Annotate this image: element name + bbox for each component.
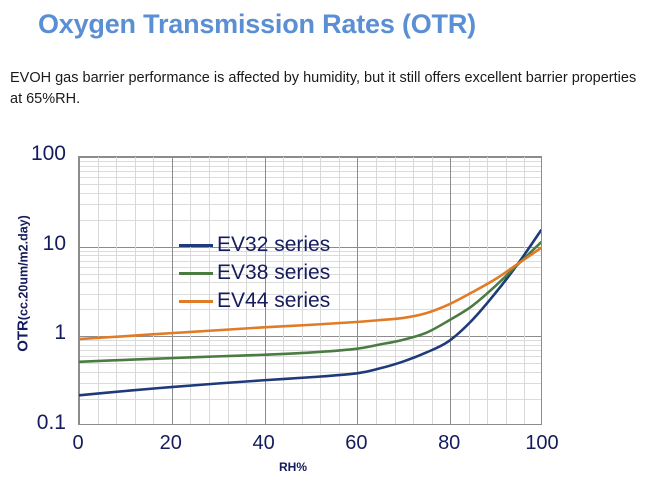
page-title: Oxygen Transmission Rates (OTR) (38, 9, 476, 40)
x-tick-label: 60 (326, 432, 386, 455)
legend-item[interactable]: EV44 series (179, 287, 330, 315)
x-axis-title: RH% (279, 460, 307, 474)
legend-item[interactable]: EV32 series (179, 231, 330, 259)
legend-item[interactable]: EV38 series (179, 259, 330, 287)
legend-item-label: EV38 series (217, 261, 330, 285)
y-tick-label: 100 (8, 142, 66, 166)
legend-item-label: EV44 series (217, 289, 330, 313)
x-tick-label: 40 (234, 432, 294, 455)
legend-line-swatch-icon (179, 272, 213, 275)
subtitle-text: EVOH gas barrier performance is affected… (10, 68, 646, 110)
x-tick-label: 20 (141, 432, 201, 455)
legend-line-swatch-icon (179, 244, 213, 247)
x-tick-label: 100 (512, 432, 572, 455)
otr-line-chart: OTR(cc.20um/m2.day) 0.1110100 0204060801… (0, 130, 655, 485)
x-tick-label: 80 (419, 432, 479, 455)
chart-legend: EV32 seriesEV38 seriesEV44 series (179, 231, 330, 315)
y-tick-label: 10 (8, 232, 66, 256)
legend-line-swatch-icon (179, 300, 213, 303)
legend-item-label: EV32 series (217, 233, 330, 257)
y-tick-label: 1 (8, 321, 66, 345)
plot-area: EV32 seriesEV38 seriesEV44 series (78, 156, 542, 425)
x-tick-label: 0 (48, 432, 108, 455)
